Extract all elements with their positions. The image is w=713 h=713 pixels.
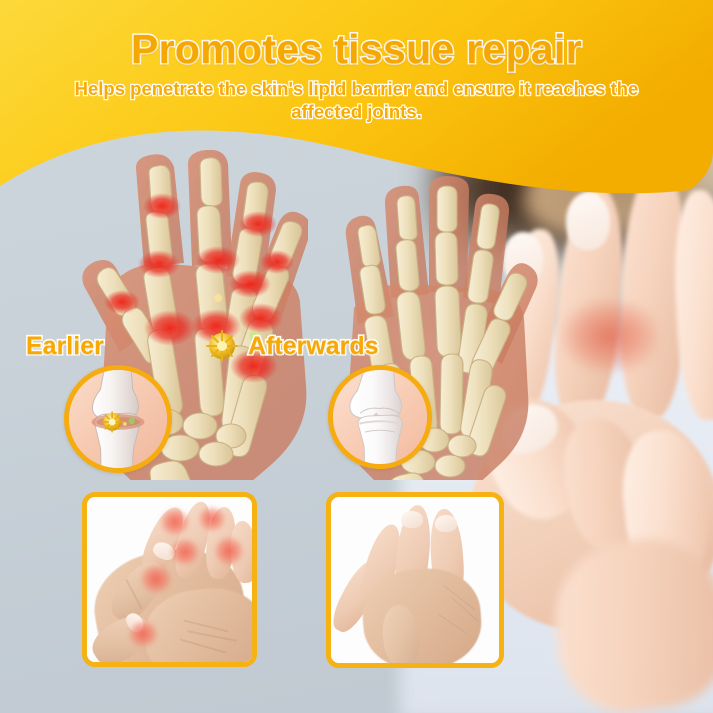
photo-after-scene (331, 497, 499, 663)
photo-before-scene (87, 497, 252, 662)
photo-frame-before (82, 492, 257, 667)
ph-inflammation-4 (215, 537, 243, 565)
stage-label-afterwards: Afterwards (248, 332, 379, 361)
ph-inflammation-3 (171, 539, 199, 565)
joint-closeup-earlier (64, 365, 172, 473)
ph-inflammation-1 (161, 509, 189, 535)
promotional-poster: Earlier Afterwards (0, 0, 713, 713)
photo-frame-after (326, 492, 504, 668)
ph2-nail-1 (401, 511, 423, 528)
ph2-nail-2 (435, 515, 457, 532)
header-band (0, 0, 713, 215)
ph-inflammation-6 (129, 621, 157, 647)
ph-inflammation-5 (141, 565, 171, 593)
stage-label-earlier: Earlier (26, 332, 104, 361)
ph-inflammation-2 (199, 507, 225, 531)
background-inflammation-highlight (562, 300, 658, 372)
joint-closeup-afterwards (328, 365, 432, 469)
